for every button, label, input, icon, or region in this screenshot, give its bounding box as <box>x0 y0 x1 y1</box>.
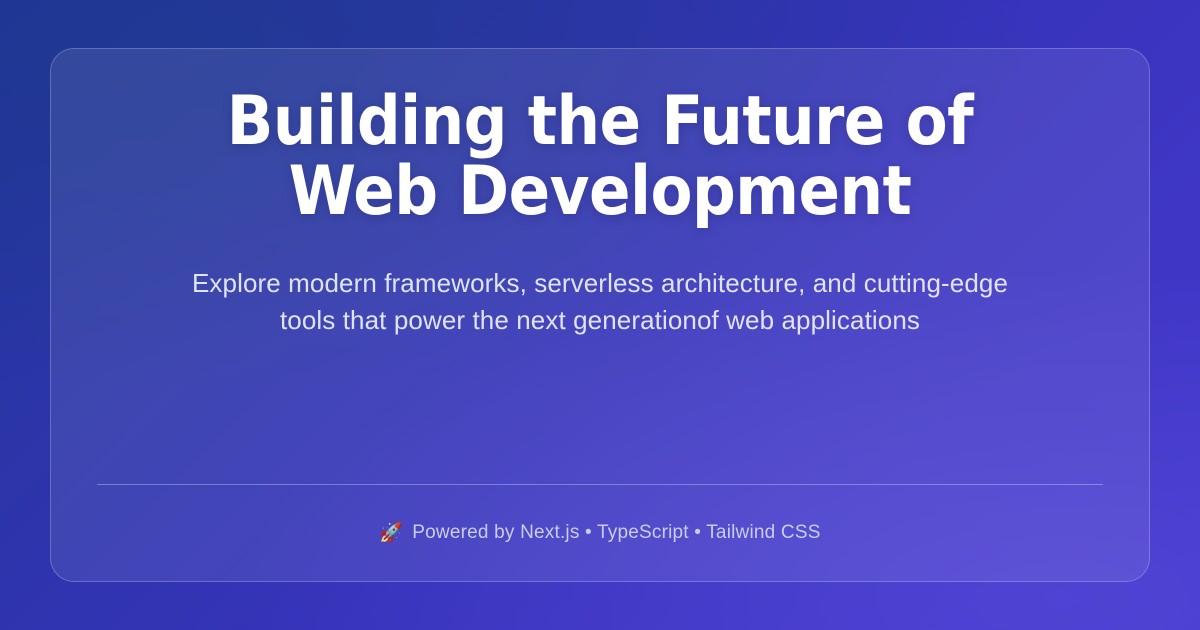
og-image-canvas: Building the Future of Web Development E… <box>0 0 1200 630</box>
page-title: Building the Future of Web Development <box>170 87 1030 227</box>
footer-credits: 🚀 Powered by Next.js • TypeScript • Tail… <box>379 485 820 581</box>
page-subtitle: Explore modern frameworks, serverless ar… <box>165 265 1035 339</box>
footer-tech-stack-label: Powered by Next.js • TypeScript • Tailwi… <box>412 522 820 544</box>
rocket-icon: 🚀 <box>379 524 403 543</box>
hero-card: Building the Future of Web Development E… <box>50 48 1150 582</box>
